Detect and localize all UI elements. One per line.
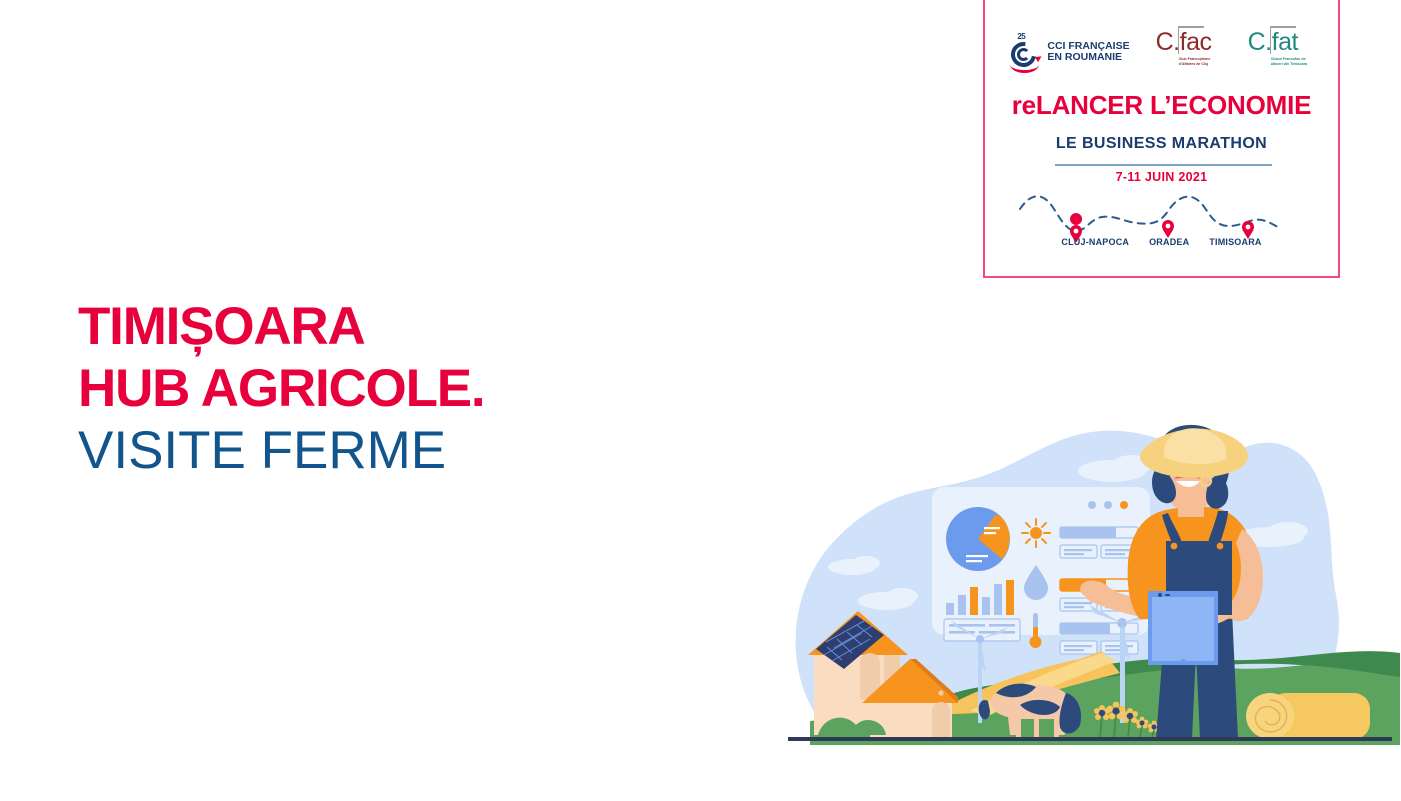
temperature-progress-fill xyxy=(1060,623,1110,634)
cfac-wordmark: C.fac xyxy=(1156,30,1212,55)
cci-arrow-icon xyxy=(1035,54,1043,62)
tablet xyxy=(1148,591,1218,665)
headline-line-topic: HUB AGRICOLE. xyxy=(78,358,698,420)
cfat-wordmark: C.fat xyxy=(1248,30,1298,55)
event-headline: reLANCER L’ECONOMIE xyxy=(985,90,1338,121)
headline-line-subtitle: VISITE FERME xyxy=(78,420,698,482)
route-city-labels: CLUJ-NAPOCA ORADEA TIMISOARA xyxy=(985,237,1338,247)
ground-line xyxy=(788,737,1392,741)
cfac-subtitle: Club Francophone d’Affaires de Cluj xyxy=(1179,57,1225,66)
pie-chart xyxy=(946,507,1010,571)
city-label-oradea: ORADEA xyxy=(1149,237,1189,247)
city-label-cluj-napoca: CLUJ-NAPOCA xyxy=(1061,237,1129,247)
route-dashed-path xyxy=(1020,196,1278,231)
sun-progress-fill xyxy=(1060,527,1116,538)
city-label-timisoara: TIMISOARA xyxy=(1209,237,1261,247)
cci-francaise-roumanie-logo: 25 CCI FRANÇAISE EN ROUMANIE xyxy=(1009,35,1129,69)
sun-icon xyxy=(1022,519,1050,547)
page-title: TIMIȘOARA HUB AGRICOLE. VISITE FERME xyxy=(78,296,698,482)
dashboard-panel xyxy=(932,487,1150,654)
event-subheadline: LE BUSINESS MARATHON xyxy=(985,135,1338,153)
cci-anniversary-badge: 25 xyxy=(1017,32,1025,41)
cci-emblem-icon: 25 xyxy=(1009,35,1043,69)
smart-farming-illustration xyxy=(780,415,1400,775)
event-route-map xyxy=(1010,187,1315,242)
partner-logos-row: 25 CCI FRANÇAISE EN ROUMANIE C.fac Club … xyxy=(985,28,1338,76)
overall-button-right xyxy=(1217,543,1224,550)
cci-wordmark-line2: EN ROUMANIE xyxy=(1047,52,1129,64)
window-dot-3 xyxy=(1120,501,1128,509)
cci-wordmark: CCI FRANÇAISE EN ROUMANIE xyxy=(1047,41,1129,64)
cfat-subtitle: Clubul Francofon de Afaceri din Timisoar… xyxy=(1271,57,1317,66)
window-dot-2 xyxy=(1104,501,1112,509)
event-divider xyxy=(1055,164,1272,166)
event-dates: 7-11 JUIN 2021 xyxy=(985,170,1338,184)
window-dot-1 xyxy=(1088,501,1096,509)
event-logo-card: 25 CCI FRANÇAISE EN ROUMANIE C.fac Club … xyxy=(983,0,1340,278)
cfat-logo: C.fat Clubul Francofon de Afaceri din Ti… xyxy=(1248,30,1314,74)
headline-line-city: TIMIȘOARA xyxy=(78,296,698,358)
cfac-logo: C.fac Club Francophone d’Affaires de Clu… xyxy=(1156,30,1222,74)
overall-button-left xyxy=(1171,543,1178,550)
map-pin-oradea xyxy=(1162,220,1174,238)
